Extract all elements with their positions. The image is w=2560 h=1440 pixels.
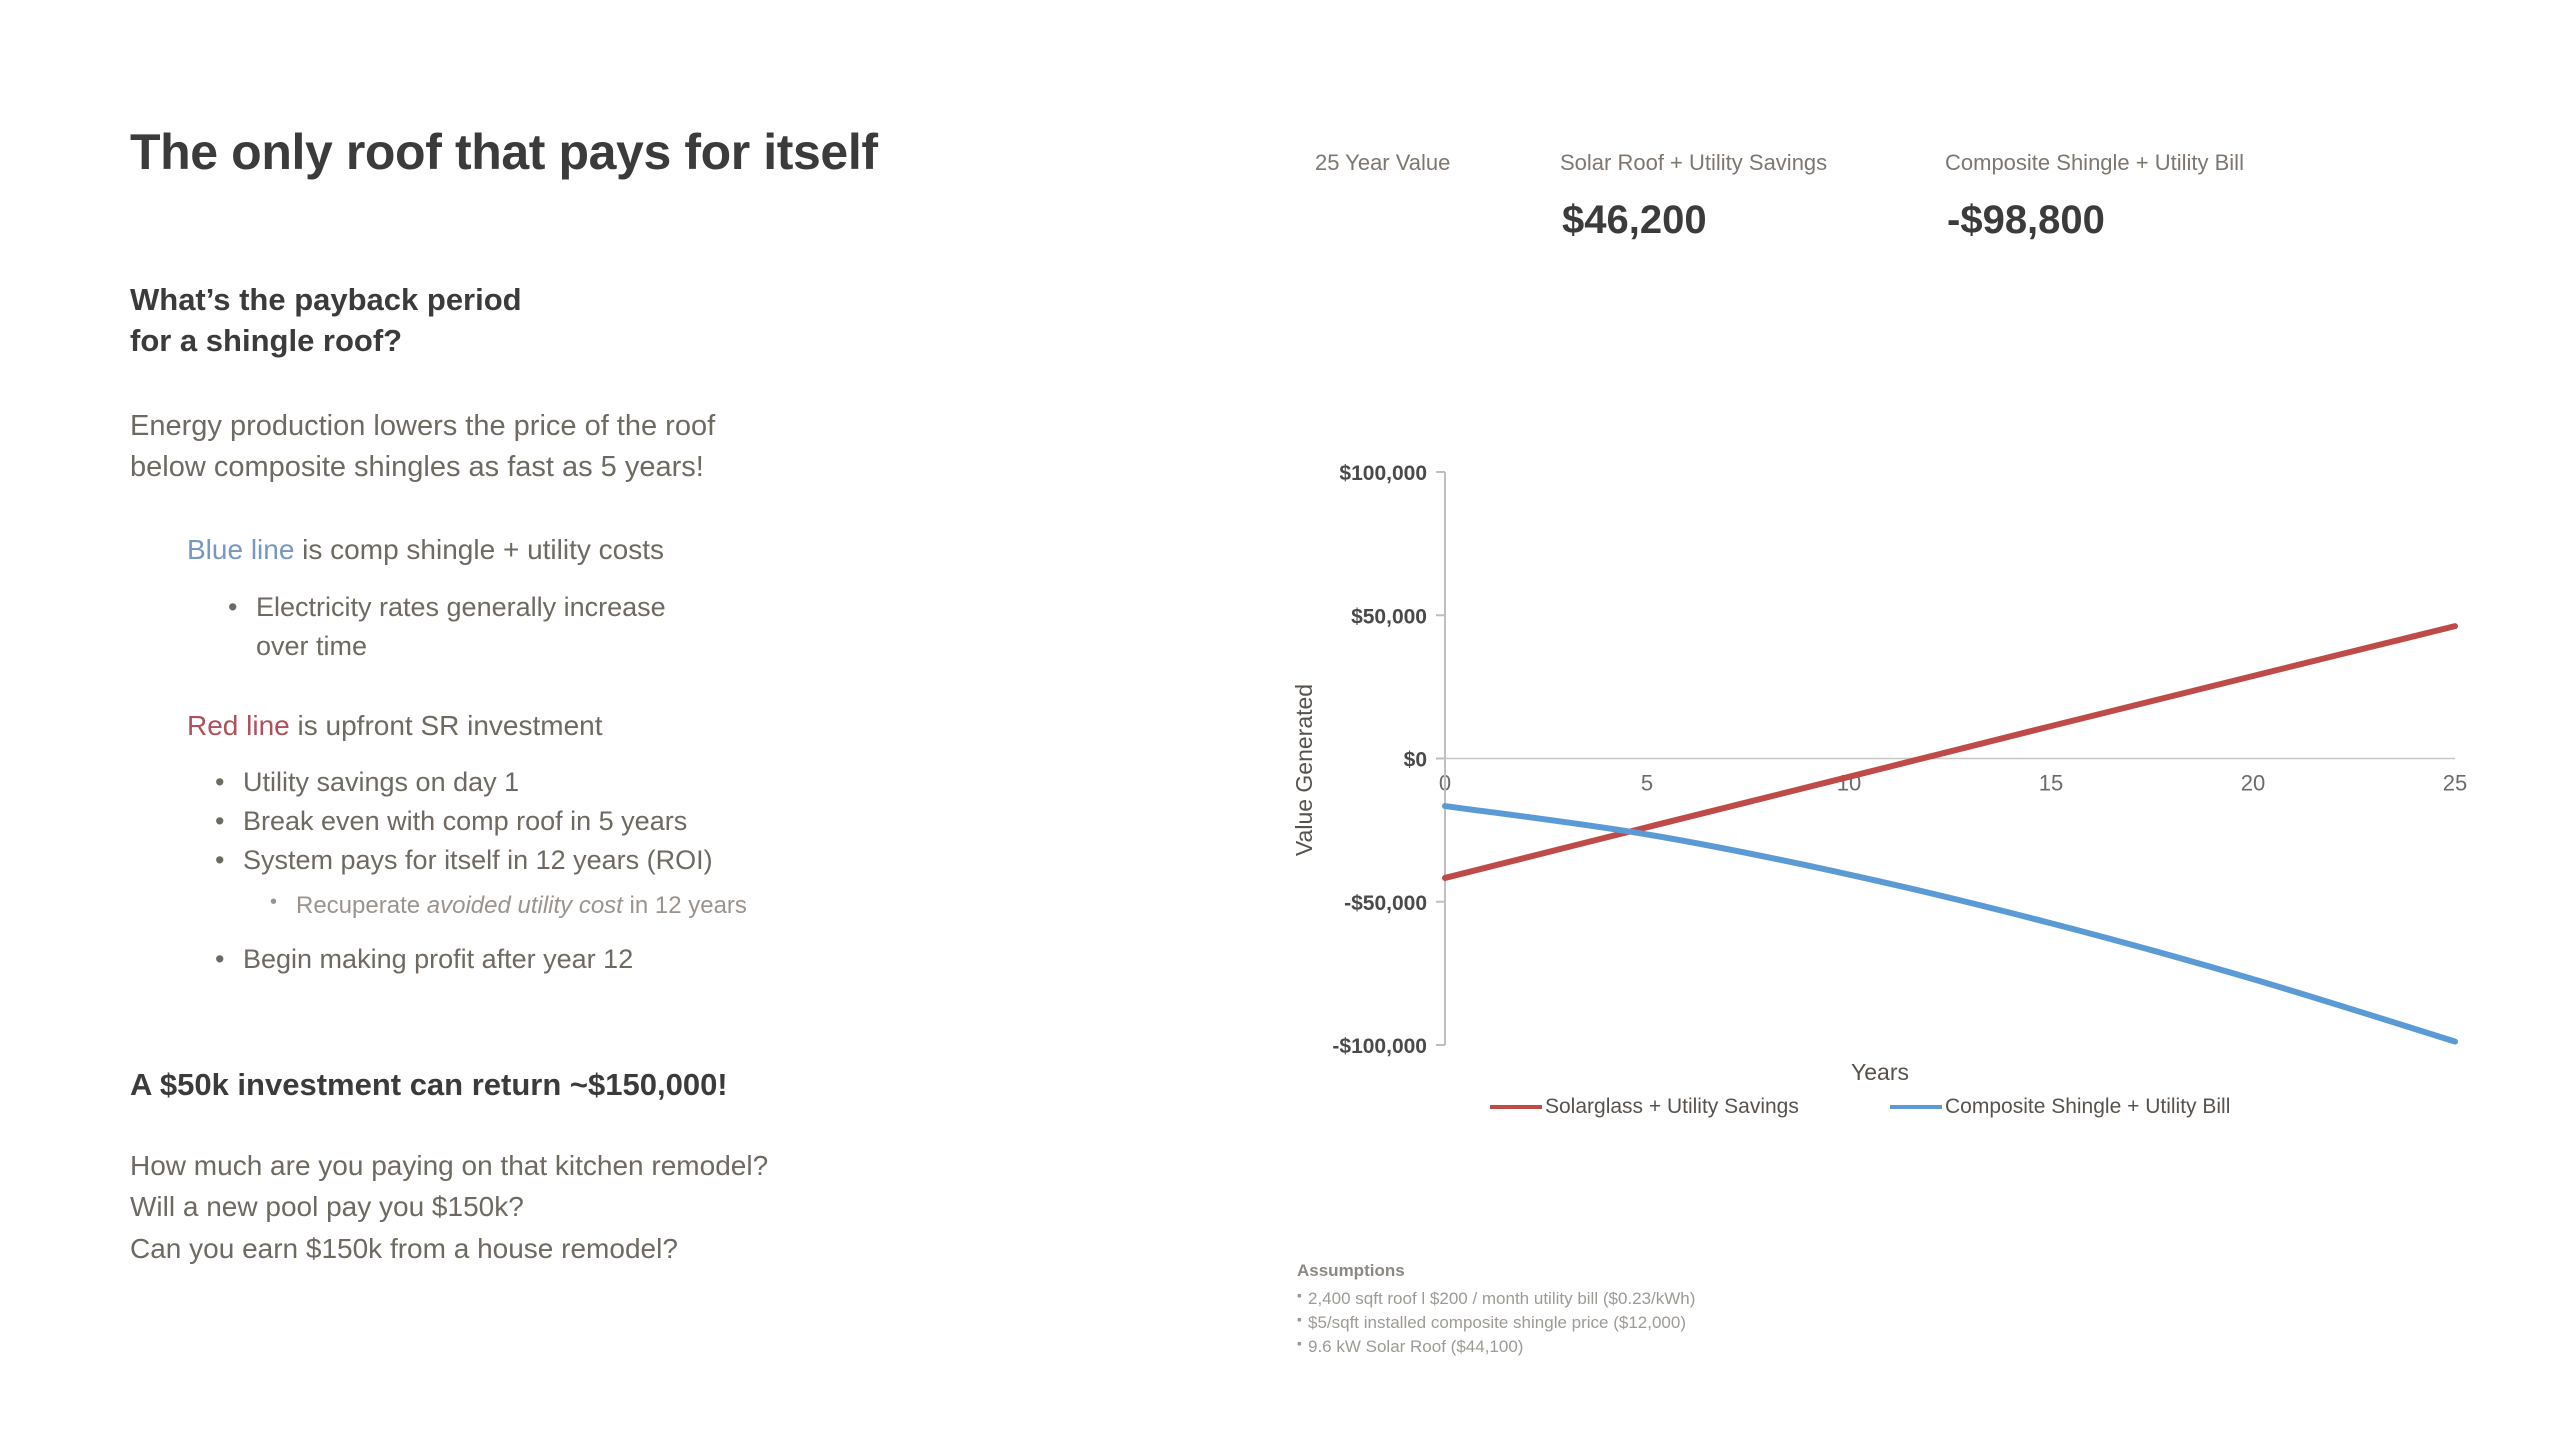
- square-bullet-icon: ▪: [1297, 1310, 1302, 1330]
- stat-label: Solar Roof + Utility Savings: [1560, 152, 1827, 174]
- red-sub-text-4: Begin making profit after year 12: [243, 944, 633, 974]
- red-line-block: Red line is upfront SR investment • Util…: [130, 706, 1130, 979]
- closing-line-2: Will a new pool pay you $150k?: [130, 1186, 1180, 1227]
- y-axis-tick-labels: -$100,000-$50,000$0$50,000$100,000: [1332, 462, 1427, 1058]
- closing-block: A $50k investment can return ~$150,000! …: [130, 1065, 1180, 1269]
- blue-line-block: Blue line is comp shingle + utility cost…: [130, 530, 1130, 665]
- stat-solar-roof-utility-savings: Solar Roof + Utility Savings $46,200: [1560, 152, 1827, 240]
- red-sub-bullets: • Utility savings on day 1 • Break even …: [130, 763, 1130, 880]
- bullet-dot-icon: •: [270, 888, 277, 916]
- assumptions-block: Assumptions ▪ 2,400 sqft roof l $200 / m…: [1297, 1258, 1857, 1359]
- closing-headline: A $50k investment can return ~$150,000!: [130, 1065, 1180, 1105]
- chart-series: [1445, 626, 2455, 1041]
- list-item: • Electricity rates generally increase o…: [228, 588, 1130, 666]
- left-content-column: The only roof that pays for itself What’…: [130, 125, 1130, 979]
- blue-line-rest: is comp shingle + utility costs: [294, 534, 664, 565]
- bullet-dot-icon: •: [215, 802, 224, 841]
- y-tick-label: $100,000: [1339, 462, 1427, 485]
- list-item: ▪ 9.6 kW Solar Roof ($44,100): [1297, 1335, 1857, 1359]
- assumption-text: $5/sqft installed composite shingle pric…: [1308, 1313, 1686, 1332]
- closing-line-1: How much are you paying on that kitchen …: [130, 1145, 1180, 1186]
- list-item: • Begin making profit after year 12: [215, 940, 1130, 979]
- subheading-line-1: What’s the payback period: [130, 280, 1130, 321]
- y-tick-label: -$100,000: [1332, 1035, 1427, 1058]
- lead-line-1: Energy production lowers the price of th…: [130, 406, 1130, 447]
- blue-sub-line-2: over time: [256, 631, 367, 661]
- red-line-rest: is upfront SR investment: [290, 710, 603, 741]
- red-line-heading: Red line is upfront SR investment: [187, 706, 1130, 747]
- stat-label: 25 Year Value: [1315, 152, 1450, 174]
- bullet-dot-icon: •: [228, 588, 237, 627]
- stat-value: $46,200: [1562, 200, 1827, 240]
- y-tick-label: -$50,000: [1344, 892, 1427, 915]
- x-axis-title: Years: [1851, 1059, 1909, 1085]
- recuperate-pre: Recuperate: [296, 892, 427, 919]
- list-item: •Recuperate avoided utility cost in 12 y…: [270, 889, 1130, 923]
- legend-swatch-red: [1490, 1105, 1542, 1109]
- red-line-keyword: Red line: [187, 710, 290, 741]
- x-tick-label: 5: [1641, 771, 1653, 796]
- list-item: ▪ $5/sqft installed composite shingle pr…: [1297, 1311, 1857, 1335]
- legend-label: Solarglass + Utility Savings: [1545, 1096, 1799, 1117]
- stat-25-year-value: 25 Year Value: [1315, 152, 1450, 200]
- blue-sub-bullets: • Electricity rates generally increase o…: [130, 588, 1130, 666]
- spacer: [130, 666, 1130, 706]
- list-item: ▪ 2,400 sqft roof l $200 / month utility…: [1297, 1287, 1857, 1311]
- bullet-dot-icon: •: [215, 763, 224, 802]
- lead-paragraph: Energy production lowers the price of th…: [130, 406, 1130, 488]
- red-sub-text-2: Break even with comp roof in 5 years: [243, 806, 687, 836]
- y-tick-label: $0: [1404, 749, 1427, 772]
- assumptions-list: ▪ 2,400 sqft roof l $200 / month utility…: [1297, 1287, 1857, 1359]
- red-sub-text-3: System pays for itself in 12 years (ROI): [243, 845, 713, 875]
- closing-line-3: Can you earn $150k from a house remodel?: [130, 1228, 1180, 1269]
- bullet-dot-icon: •: [215, 841, 224, 880]
- blue-line-heading: Blue line is comp shingle + utility cost…: [187, 530, 1130, 571]
- legend-item-composite-shingle: Composite Shingle + Utility Bill: [1890, 1096, 2230, 1117]
- stat-composite-shingle-utility-bill: Composite Shingle + Utility Bill -$98,80…: [1945, 152, 2244, 240]
- page-title: The only roof that pays for itself: [130, 125, 1130, 180]
- square-bullet-icon: ▪: [1297, 1334, 1302, 1354]
- x-tick-label: 20: [2241, 771, 2265, 796]
- x-tick-label: 25: [2443, 771, 2467, 796]
- y-axis-title: Value Generated: [1291, 684, 1317, 856]
- list-item: • Utility savings on day 1: [215, 763, 1130, 802]
- legend-label: Composite Shingle + Utility Bill: [1945, 1096, 2230, 1117]
- red-sub-bullets-last: • Begin making profit after year 12: [130, 940, 1130, 979]
- legend-swatch-blue: [1890, 1105, 1942, 1109]
- bullet-dot-icon: •: [215, 940, 224, 979]
- closing-questions: How much are you paying on that kitchen …: [130, 1145, 1180, 1268]
- series-line-solarglass: [1445, 626, 2455, 878]
- list-item: • Break even with comp roof in 5 years: [215, 802, 1130, 841]
- assumption-text: 2,400 sqft roof l $200 / month utility b…: [1308, 1289, 1695, 1308]
- red-sub-sub-bullets: •Recuperate avoided utility cost in 12 y…: [130, 889, 1130, 923]
- chart-legend: Solarglass + Utility Savings Composite S…: [1490, 1096, 2390, 1130]
- chart-svg-canvas: Value Generated -$100,000-$50,000$0$50,0…: [1290, 420, 2480, 1120]
- red-sub-text-1: Utility savings on day 1: [243, 767, 519, 797]
- legend-item-solarglass: Solarglass + Utility Savings: [1490, 1096, 1799, 1117]
- blue-sub-line-1: Electricity rates generally increase: [256, 592, 666, 622]
- x-tick-label: 15: [2039, 771, 2063, 796]
- recuperate-post: in 12 years: [623, 892, 747, 919]
- y-tick-label: $50,000: [1351, 605, 1427, 628]
- stat-value: -$98,800: [1947, 200, 2244, 240]
- axis-lines: [1436, 472, 2455, 1045]
- lead-line-2: below composite shingles as fast as 5 ye…: [130, 447, 1130, 488]
- list-item: • System pays for itself in 12 years (RO…: [215, 841, 1130, 880]
- recuperate-emphasis: avoided utility cost: [427, 892, 623, 919]
- x-axis-tick-labels: 0510152025: [1439, 771, 2467, 796]
- assumption-text: 9.6 kW Solar Roof ($44,100): [1308, 1337, 1523, 1356]
- blue-line-keyword: Blue line: [187, 534, 294, 565]
- subheading-line-2: for a shingle roof?: [130, 321, 1130, 362]
- bullet-section: Blue line is comp shingle + utility cost…: [130, 530, 1130, 979]
- square-bullet-icon: ▪: [1297, 1286, 1302, 1306]
- stats-header: 25 Year Value Solar Roof + Utility Savin…: [1290, 142, 2470, 252]
- subheading: What’s the payback period for a shingle …: [130, 280, 1130, 362]
- assumptions-title: Assumptions: [1297, 1258, 1857, 1284]
- value-generated-chart: Value Generated -$100,000-$50,000$0$50,0…: [1290, 420, 2480, 1120]
- stat-label: Composite Shingle + Utility Bill: [1945, 152, 2244, 174]
